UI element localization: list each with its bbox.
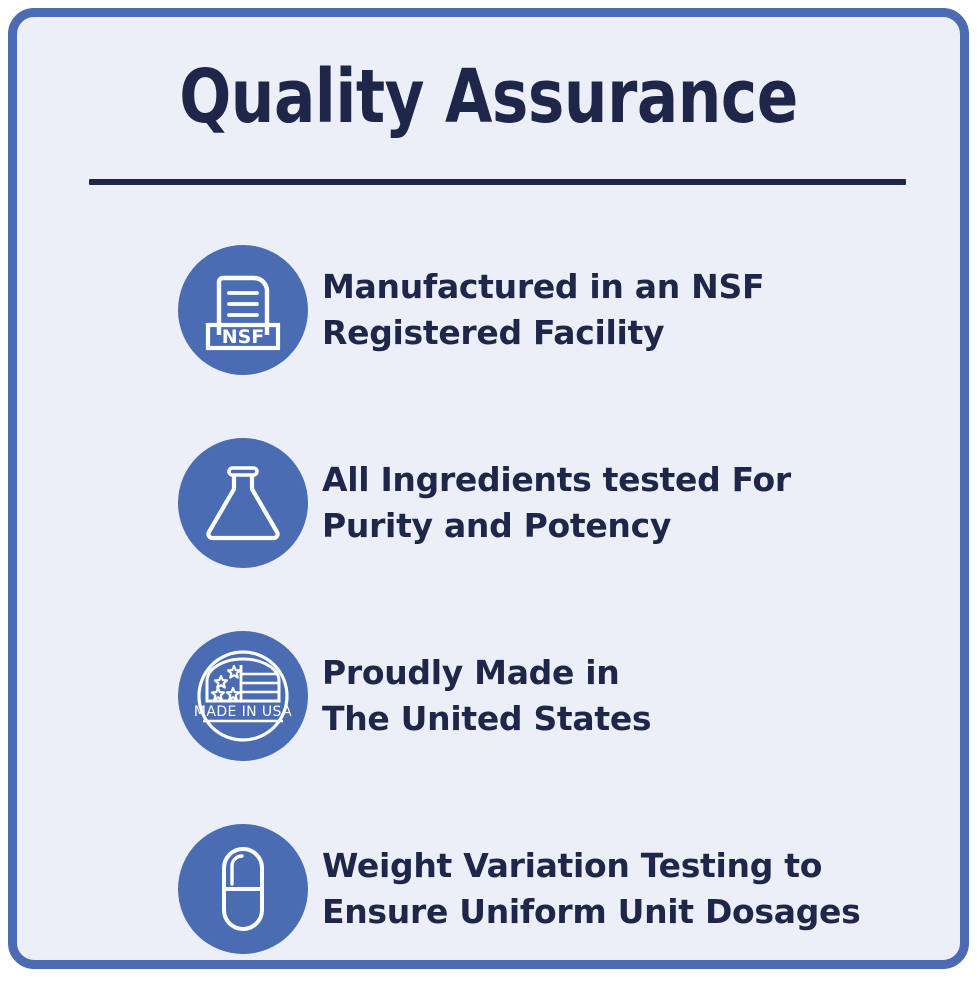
list-item: NSF Manufactured in an NSF Registered Fa… [17, 213, 960, 406]
capsule-pill-icon [178, 824, 308, 954]
nsf-certificate-icon: NSF [178, 245, 308, 375]
list-item-text: Proudly Made in The United States [322, 650, 920, 742]
list-item-line: All Ingredients tested For [322, 457, 920, 503]
list-item-line: Purity and Potency [322, 503, 920, 549]
list-item-text: Manufactured in an NSF Registered Facili… [322, 264, 920, 356]
page-title: Quality Assurance [55, 55, 923, 139]
list-item-line: Registered Facility [322, 310, 920, 356]
made-in-usa-badge-icon: MADE IN USA [178, 631, 308, 761]
list-item-text: Weight Variation Testing to Ensure Unifo… [322, 843, 920, 935]
list-item-line: Manufactured in an NSF [322, 264, 920, 310]
quality-assurance-card: Quality Assurance NSF Manufactured in an… [8, 8, 969, 969]
list-item-line: Proudly Made in [322, 650, 920, 696]
feature-list: NSF Manufactured in an NSF Registered Fa… [17, 213, 960, 985]
list-item-line: The United States [322, 696, 920, 742]
title-divider [89, 179, 906, 185]
list-item: MADE IN USA Proudly Made in The United S… [17, 599, 960, 792]
made-in-usa-icon-label: MADE IN USA [194, 704, 292, 720]
list-item-text: All Ingredients tested For Purity and Po… [322, 457, 920, 549]
erlenmeyer-flask-icon [178, 438, 308, 568]
list-item: Weight Variation Testing to Ensure Unifo… [17, 792, 960, 985]
list-item: All Ingredients tested For Purity and Po… [17, 406, 960, 599]
list-item-line: Weight Variation Testing to [322, 843, 920, 889]
nsf-icon-label: NSF [222, 326, 265, 348]
list-item-line: Ensure Uniform Unit Dosages [322, 889, 920, 935]
